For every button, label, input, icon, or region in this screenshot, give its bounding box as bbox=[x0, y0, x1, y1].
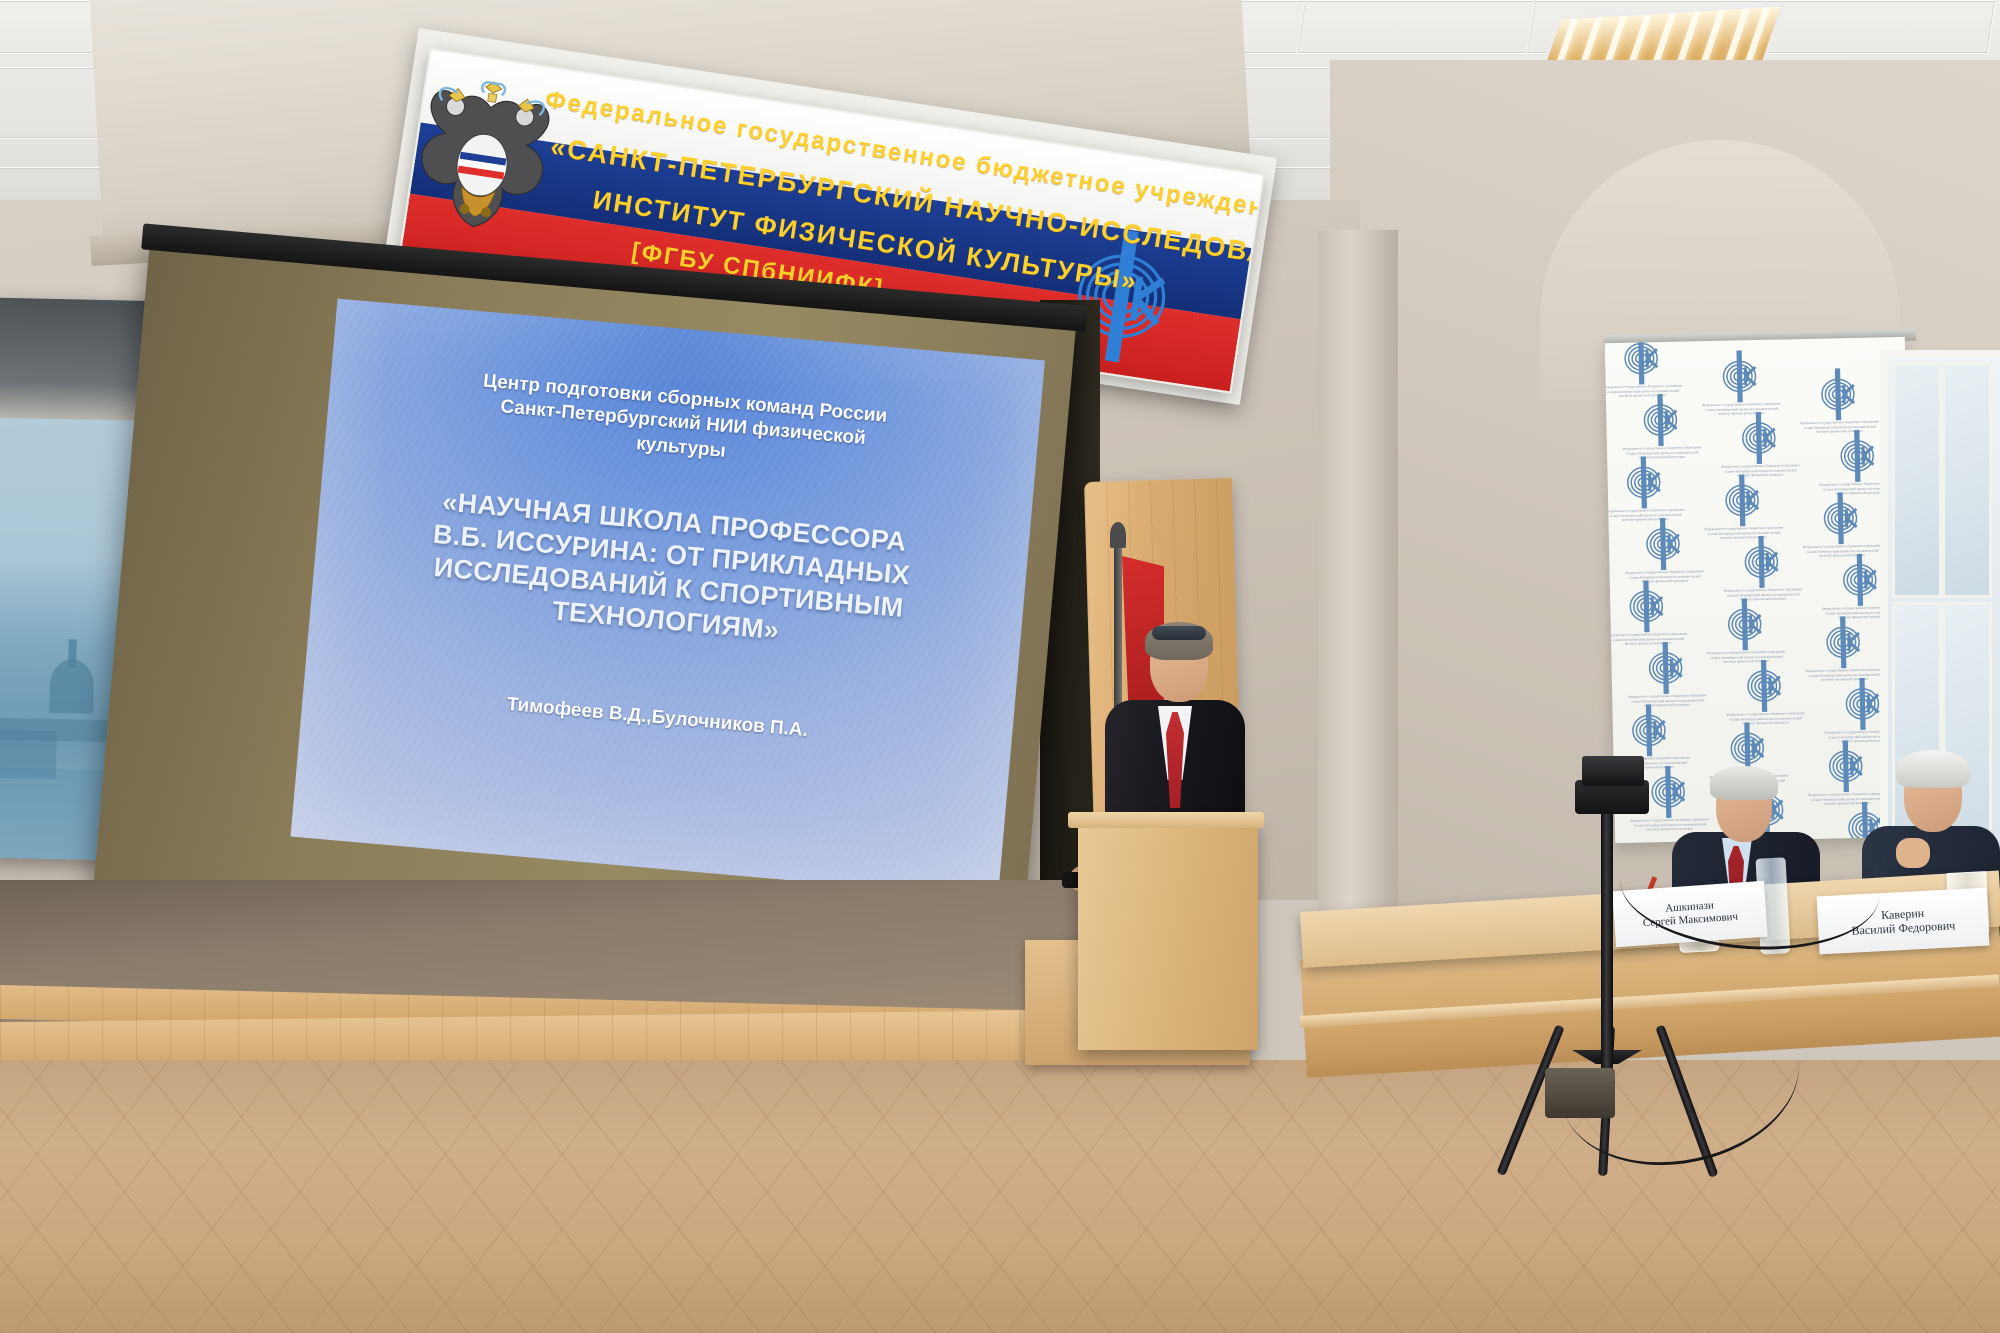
niifk-circular-logo-icon bbox=[1624, 580, 1671, 633]
niifk-circular-logo-icon bbox=[1619, 337, 1666, 385]
niifk-circular-logo-icon bbox=[1640, 518, 1687, 571]
flag-pole-finial bbox=[1110, 522, 1126, 548]
lectern-top-ledge bbox=[1068, 812, 1264, 828]
wall-pillar bbox=[1318, 230, 1398, 930]
wooden-lectern bbox=[1078, 820, 1258, 1050]
slide-authors: Тимофеев В.Д.,Булочников П.А. bbox=[303, 676, 1012, 760]
niifk-circular-logo-icon bbox=[1638, 394, 1685, 447]
niifk-circular-logo-icon bbox=[1837, 553, 1884, 606]
niifk-circular-logo-icon bbox=[1643, 641, 1690, 694]
nameplate-kaverin-given: Василий Федорович bbox=[1851, 918, 1955, 938]
video-camera-icon[interactable] bbox=[1582, 756, 1644, 786]
niifk-circular-logo-icon bbox=[1646, 765, 1693, 818]
panelist-2-hair bbox=[1896, 750, 1970, 788]
conference-room-photo: Федеральное государственное бюджетное уч… bbox=[0, 0, 2000, 1333]
niifk-circular-logo-icon bbox=[1835, 429, 1882, 482]
panelist-2-hand bbox=[1896, 838, 1930, 868]
niifk-circular-logo-icon bbox=[1741, 659, 1788, 712]
niifk-circular-logo-icon bbox=[1739, 535, 1786, 588]
panelist-1-hair bbox=[1710, 766, 1778, 800]
glasses-icon bbox=[1152, 626, 1206, 640]
ceiling-tile bbox=[1296, 0, 1537, 54]
niifk-circular-logo-icon bbox=[1717, 350, 1764, 403]
niifk-circular-logo-icon bbox=[1722, 598, 1769, 651]
niifk-circular-logo-icon bbox=[1626, 704, 1673, 757]
equipment-bag bbox=[1545, 1068, 1615, 1118]
niifk-circular-logo-icon bbox=[1736, 411, 1783, 464]
niifk-circular-logo-icon bbox=[1818, 492, 1865, 545]
presentation-slide: Центр подготовки сборных команд России С… bbox=[291, 299, 1045, 899]
niifk-circular-logo-icon bbox=[1815, 368, 1862, 421]
ceiling-tile bbox=[1756, 0, 1997, 54]
russian-double-headed-eagle-icon bbox=[397, 71, 569, 258]
niifk-circular-logo-icon bbox=[1621, 456, 1668, 509]
niifk-circular-logo-icon bbox=[1821, 616, 1868, 669]
niifk-circular-logo-icon bbox=[1720, 474, 1767, 527]
niifk-circular-logo-icon bbox=[1823, 740, 1870, 793]
